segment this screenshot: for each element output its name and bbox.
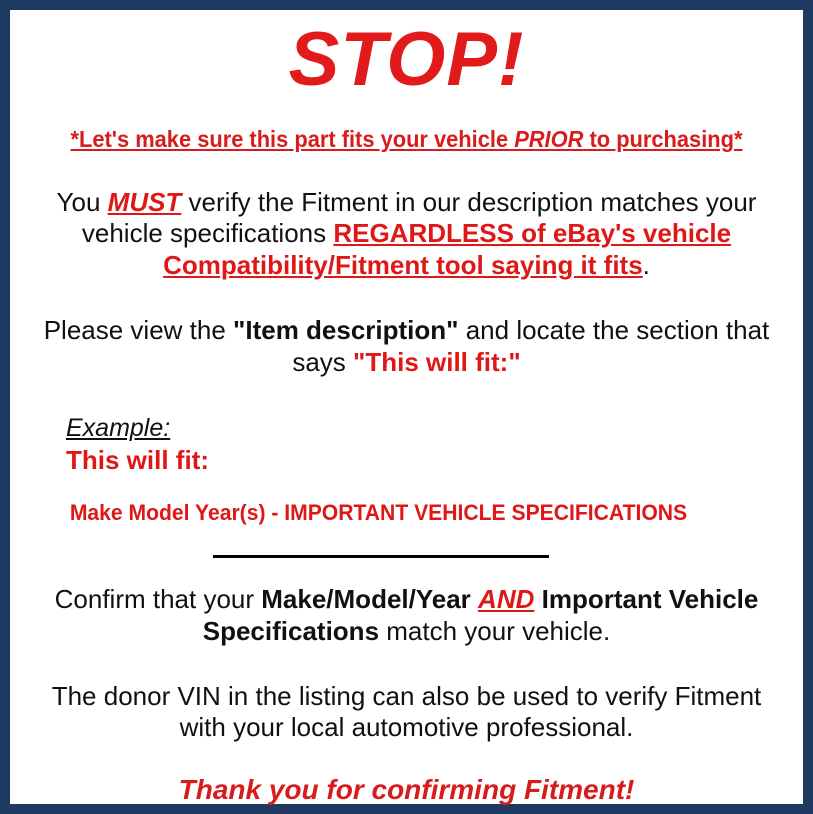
page-title: STOP! [26,16,787,98]
thank-you-line: Thank you for confirming Fitment! [26,774,787,806]
donor-vin-paragraph: The donor VIN in the listing can also be… [26,681,787,744]
must-text-part3: . [643,250,650,280]
tagline: *Let's make sure this part fits your veh… [53,126,761,153]
confirm-text-part1: Confirm that your [55,584,262,614]
view-description-paragraph: Please view the "Item description" and l… [26,315,787,378]
example-spec-line: Make Model Year(s) - IMPORTANT VEHICLE S… [66,500,758,526]
tagline-emphasis-prior: PRIOR [514,126,583,152]
divider [26,548,787,558]
must-verify-paragraph: You MUST verify the Fitment in our descr… [26,187,787,281]
fitment-notice-card: STOP! *Let's make sure this part fits yo… [0,0,813,814]
item-description-emphasis: "Item description" [233,315,458,345]
example-block: Example: This will fit: Make Model Year(… [26,414,787,526]
confirm-paragraph: Confirm that your Make/Model/Year AND Im… [26,584,787,647]
view-text-part1: Please view the [44,315,233,345]
tagline-before: *Let's make sure this part fits your veh… [71,126,515,152]
example-fit-heading: This will fit: [66,444,787,478]
must-text-part1: You [57,187,108,217]
and-emphasis: AND [478,584,534,614]
make-model-year-emphasis: Make/Model/Year [261,584,471,614]
confirm-text-part3 [534,584,541,614]
tagline-after: to purchasing* [583,126,742,152]
divider-rule [213,555,549,558]
this-will-fit-emphasis: "This will fit:" [353,347,521,377]
confirm-text-part2 [471,584,478,614]
confirm-text-part4: match your vehicle. [379,616,610,646]
example-label: Example: [66,414,787,442]
must-emphasis: MUST [108,187,182,217]
notice-content: STOP! *Let's make sure this part fits yo… [10,10,803,804]
